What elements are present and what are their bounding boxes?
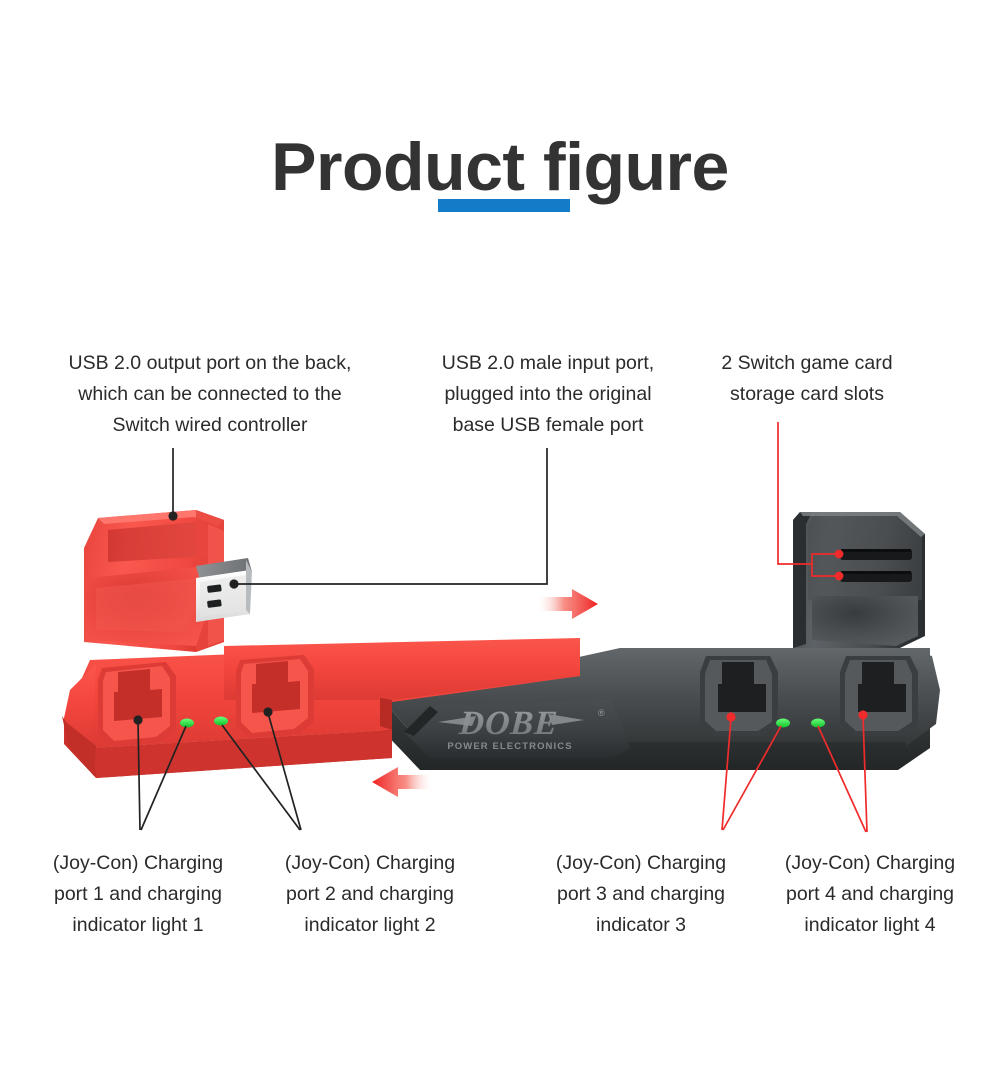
charging-slot-4 <box>840 656 918 736</box>
leader-usb-male-input-port <box>229 448 547 589</box>
indicator-light-2 <box>214 717 228 726</box>
arrow-left <box>372 767 434 797</box>
callout-usb-male-input-port: USB 2.0 male input port, plugged into th… <box>408 348 688 441</box>
charging-slot-3 <box>700 656 778 736</box>
callout-game-card-slots: 2 Switch game card storage card slots <box>694 348 920 410</box>
charging-slot-1 <box>98 662 176 746</box>
indicator-light-1 <box>180 719 194 728</box>
indicator-light-3 <box>776 719 790 728</box>
product-figure-page: Product figure <box>0 0 1000 1090</box>
callout-charging-port-4: (Joy-Con) Charging port 4 and charging i… <box>756 848 984 941</box>
callout-charging-port-2: (Joy-Con) Charging port 2 and charging i… <box>256 848 484 941</box>
charging-slot-2 <box>236 655 314 738</box>
callout-charging-port-3: (Joy-Con) Charging port 3 and charging i… <box>528 848 754 941</box>
callout-charging-port-1: (Joy-Con) Charging port 1 and charging i… <box>18 848 258 941</box>
arrow-right <box>536 589 598 619</box>
callout-usb-output-port: USB 2.0 output port on the back, which c… <box>20 348 400 441</box>
svg-text:®: ® <box>598 708 605 718</box>
usb-male-connector <box>196 558 252 622</box>
leader-usb-output-port <box>168 448 177 521</box>
brand-tagline-text: POWER ELECTRONICS <box>447 741 572 752</box>
